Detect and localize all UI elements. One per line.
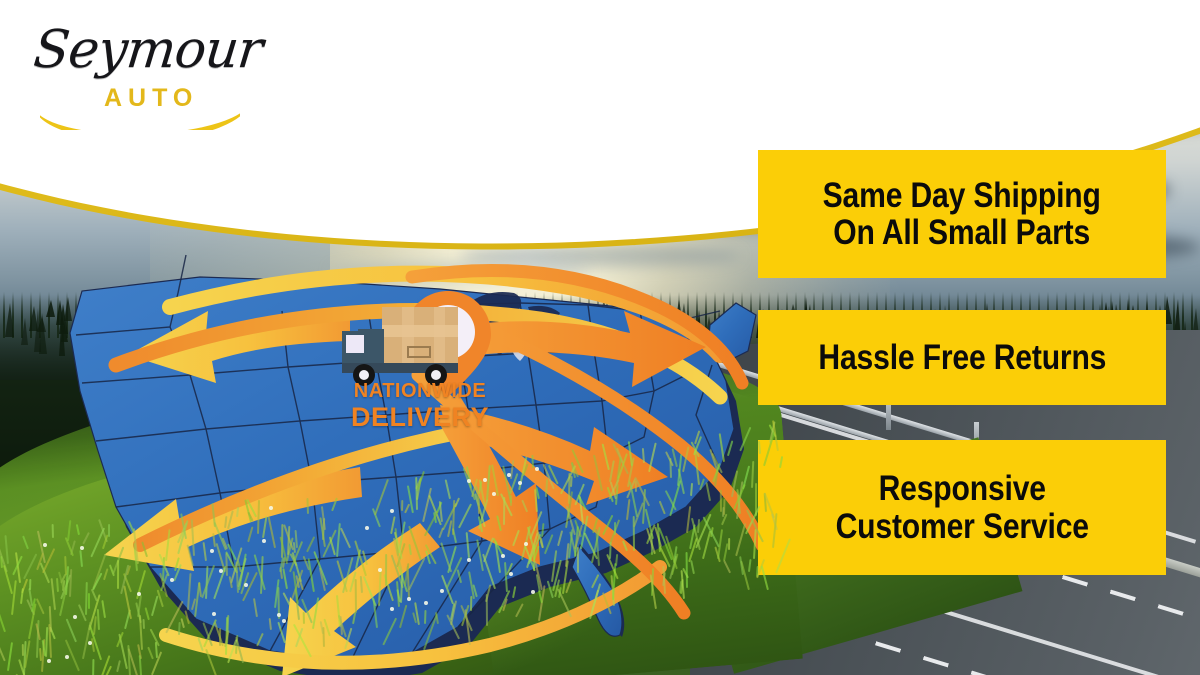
brand-name: Seymour: [31, 20, 265, 80]
feature-box-same-day-shipping[interactable]: Same Day Shipping On All Small Parts: [758, 150, 1166, 278]
tree: [5, 303, 14, 337]
feature-box-hassle-free-returns[interactable]: Hassle Free Returns: [758, 310, 1166, 405]
feature-line: On All Small Parts: [823, 214, 1101, 251]
badge-line-1: NATIONWIDE: [330, 381, 510, 401]
feature-line: Hassle Free Returns: [818, 339, 1106, 376]
cloud: [1000, 95, 1200, 131]
feature-line: Customer Service: [835, 508, 1088, 545]
delivery-truck-icon: [342, 307, 458, 386]
feature-line: Same Day Shipping: [823, 177, 1101, 214]
brand-logo[interactable]: Seymour AUTO: [26, 18, 246, 128]
cloud: [700, 118, 1040, 148]
feature-box-responsive-customer-service[interactable]: Responsive Customer Service: [758, 440, 1166, 575]
nationwide-delivery-badge: NATIONWIDE DELIVERY: [330, 285, 510, 450]
badge-caption: NATIONWIDE DELIVERY: [330, 381, 510, 431]
promo-banner: Seymour AUTO: [0, 0, 1200, 675]
badge-line-2: DELIVERY: [330, 404, 510, 431]
brand-subtitle: AUTO: [104, 84, 198, 113]
feature-line: Responsive: [835, 470, 1088, 507]
